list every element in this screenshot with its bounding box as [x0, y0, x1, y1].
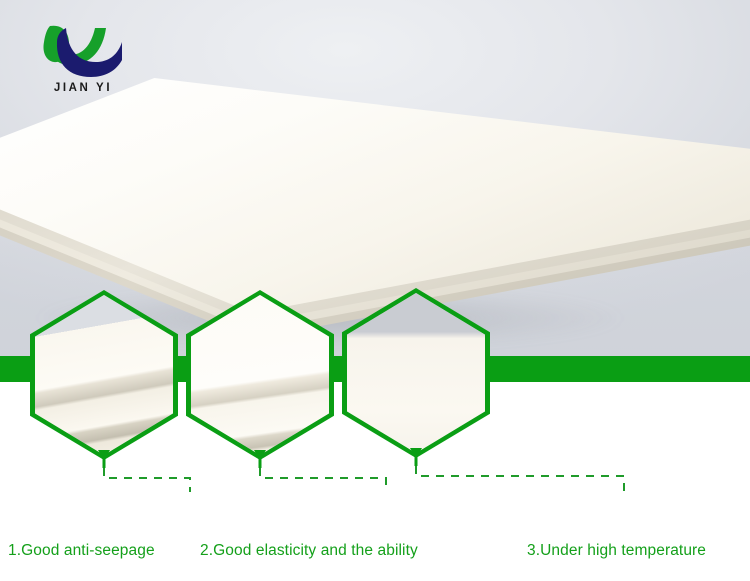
- caption-line: 3.Under high temperature: [527, 537, 706, 564]
- caption-line: 2.Good elasticity and the ability: [200, 537, 482, 564]
- main-product-photo: [0, 78, 750, 318]
- jianyi-leaf-j-logo-icon: [36, 22, 126, 80]
- feature-hexagon-2[interactable]: [186, 290, 334, 460]
- feature-caption-3: 3.Under high temperature use and long se…: [527, 483, 706, 581]
- product-feature-banner: JIAN YI: [0, 0, 750, 581]
- feature-captions: 1.Good anti-seepage and waterproof perfo…: [0, 483, 750, 581]
- feature-caption-2: 2.Good elasticity and the ability to ada…: [200, 483, 482, 581]
- caption-line: 1.Good anti-seepage: [8, 537, 155, 564]
- feature-caption-1: 1.Good anti-seepage and waterproof perfo…: [8, 483, 155, 581]
- brand-logo: JIAN YI: [36, 22, 126, 100]
- brand-name: JIAN YI: [40, 82, 126, 94]
- feature-hexagon-3[interactable]: [342, 288, 490, 458]
- feature-hexagon-1[interactable]: [30, 290, 178, 460]
